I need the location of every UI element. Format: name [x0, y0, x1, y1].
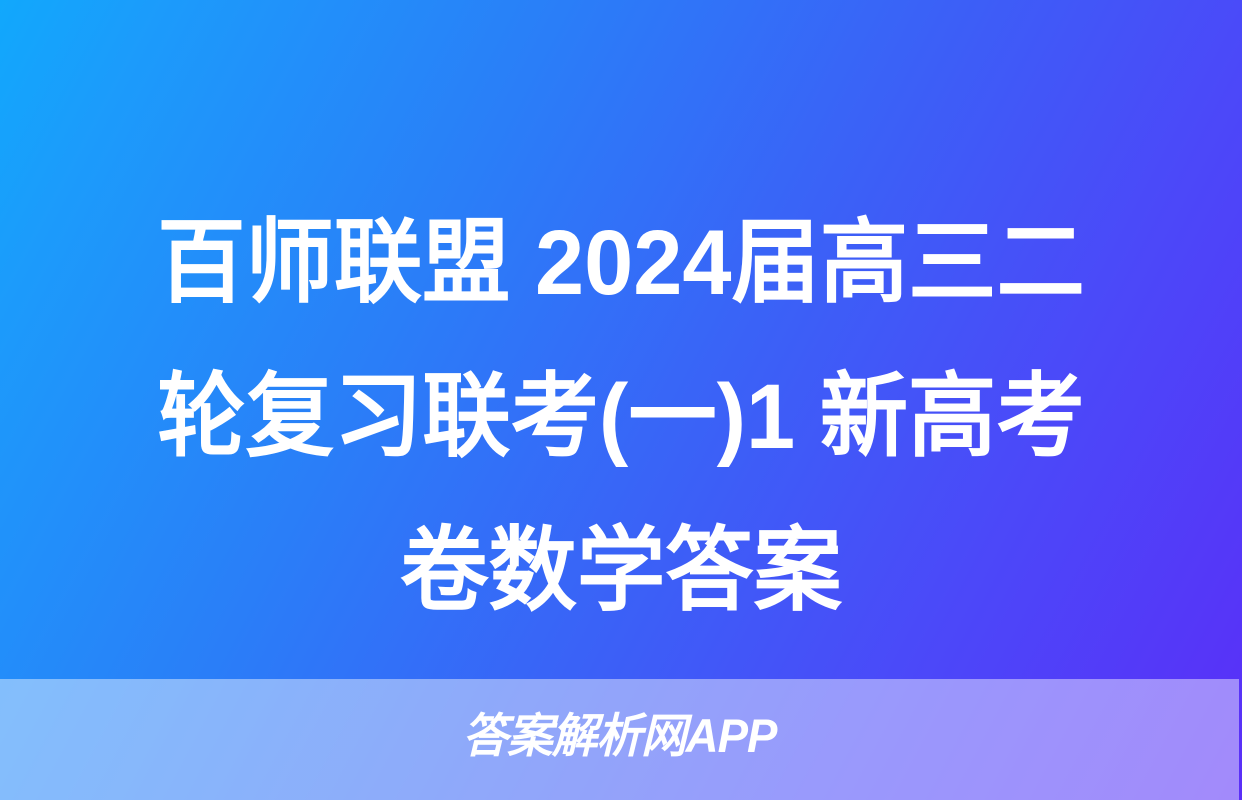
title-line-1: 百师联盟 2024届高三二	[25, 186, 1217, 340]
footer-brand-label: 答案解析网APP	[19, 706, 1221, 766]
poster-canvas: 百师联盟 2024届高三二 轮复习联考(一)1 新高考 卷数学答案 答案解析网A…	[0, 0, 1242, 800]
title-line-3: 卷数学答案	[25, 494, 1217, 648]
page-title: 百师联盟 2024届高三二 轮复习联考(一)1 新高考 卷数学答案	[25, 186, 1217, 648]
title-line-2: 轮复习联考(一)1 新高考	[25, 340, 1217, 494]
